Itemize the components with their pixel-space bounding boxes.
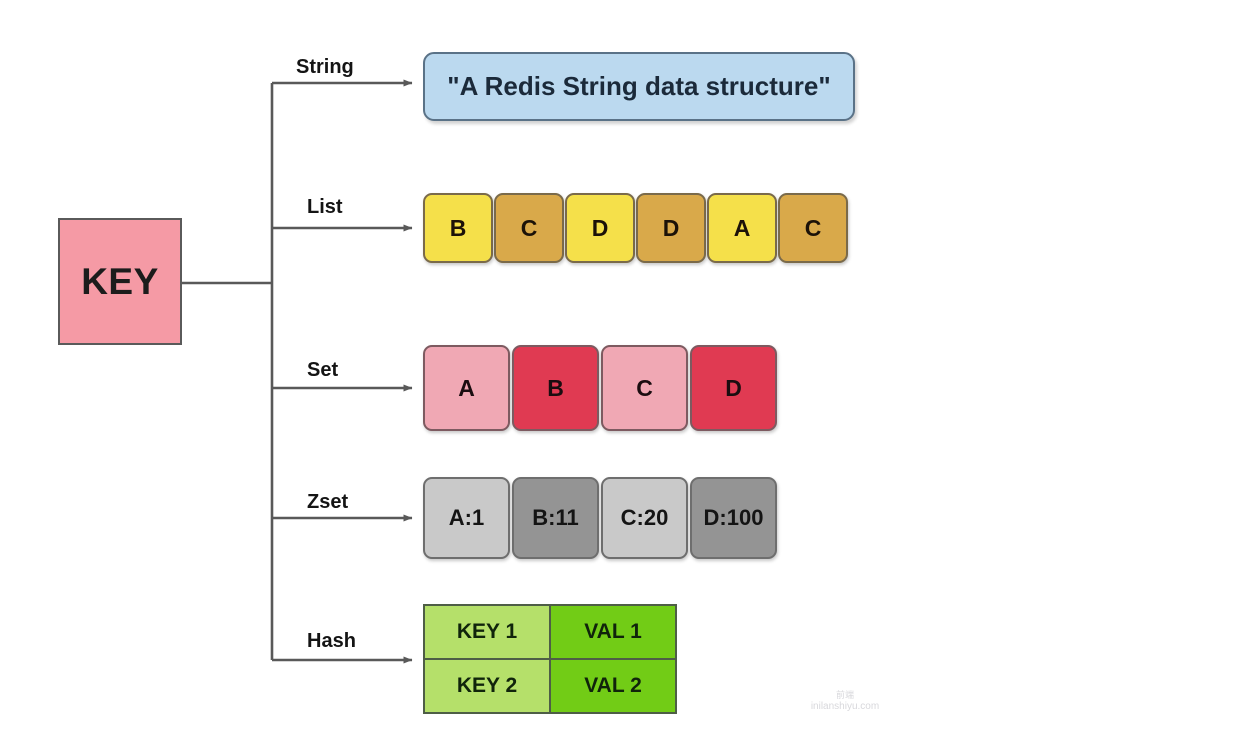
list-cell: B xyxy=(423,193,493,263)
branch-label-string: String xyxy=(296,56,354,79)
key-node-label: KEY xyxy=(81,261,159,303)
branch-label-set: Set xyxy=(307,359,338,382)
list-cell: D xyxy=(636,193,706,263)
zset-cell: A:1 xyxy=(423,477,510,559)
zset-cell: B:11 xyxy=(512,477,599,559)
set-cell: D xyxy=(690,345,777,431)
hash-value-cell: VAL 1 xyxy=(550,605,676,659)
list-cell: C xyxy=(494,193,564,263)
hash-key-cell: KEY 2 xyxy=(424,659,550,713)
list-cells: B C D D A C xyxy=(423,193,849,263)
zset-cell: C:20 xyxy=(601,477,688,559)
watermark: 前端 inilanshiyu.com xyxy=(795,690,895,714)
list-cell: A xyxy=(707,193,777,263)
branch-label-list: List xyxy=(307,196,343,219)
watermark-line-2: inilanshiyu.com xyxy=(795,701,895,714)
list-cell: D xyxy=(565,193,635,263)
watermark-line-1: 前端 xyxy=(795,690,895,701)
hash-table: KEY 1 VAL 1 KEY 2 VAL 2 xyxy=(423,604,677,714)
set-cell: C xyxy=(601,345,688,431)
set-cell: B xyxy=(512,345,599,431)
branch-label-zset: Zset xyxy=(307,491,348,514)
diagram-canvas: KEY String List Set Zset Hash "A Redis S… xyxy=(0,0,1236,739)
set-cells: A B C D xyxy=(423,345,779,431)
table-row: KEY 2 VAL 2 xyxy=(424,659,676,713)
string-value-box: "A Redis String data structure" xyxy=(423,52,855,121)
string-value-text: "A Redis String data structure" xyxy=(447,71,830,102)
table-row: KEY 1 VAL 1 xyxy=(424,605,676,659)
set-cell: A xyxy=(423,345,510,431)
list-cell: C xyxy=(778,193,848,263)
hash-key-cell: KEY 1 xyxy=(424,605,550,659)
key-node: KEY xyxy=(58,218,182,345)
zset-cell: D:100 xyxy=(690,477,777,559)
zset-cells: A:1 B:11 C:20 D:100 xyxy=(423,477,779,559)
branch-label-hash: Hash xyxy=(307,630,356,653)
hash-value-cell: VAL 2 xyxy=(550,659,676,713)
